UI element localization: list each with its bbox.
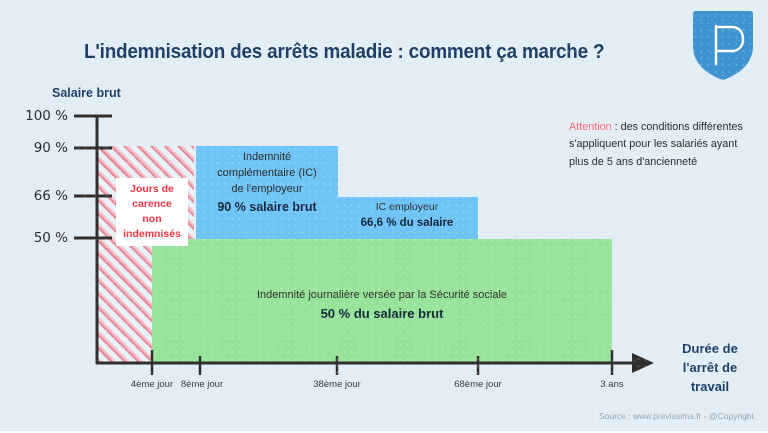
chart-axes [0,0,768,433]
x-tick-label-8eme-jour: 8ème jour [181,379,223,390]
attention-highlight: Attention [569,121,612,133]
x-axis-title-line-3: travail [660,378,760,397]
x-tick-label-3-ans: 3 ans [600,379,623,390]
x-tick-label-38eme-jour: 38ème jour [313,379,361,390]
y-tick-label-100: 100 % [6,108,68,124]
x-axis-title-line-1: Durée de [660,340,760,359]
x-tick-label-4eme-jour: 4ème jour [131,379,173,390]
infographic-canvas: L'indemnisation des arrêts maladie : com… [0,0,768,433]
x-axis-title-line-2: l'arrêt de [660,359,760,378]
y-tick-label-90: 90 % [6,140,68,156]
x-axis-title: Durée de l'arrêt de travail [660,340,760,397]
source-credit: Source : www.previssima.fr - @Copyright [599,411,754,421]
y-tick-label-66: 66 % [6,188,68,204]
y-tick-label-50: 50 % [6,230,68,246]
attention-note: Attention : des conditions différentes s… [569,119,759,171]
x-tick-label-68eme-jour: 68ème jour [454,379,502,390]
